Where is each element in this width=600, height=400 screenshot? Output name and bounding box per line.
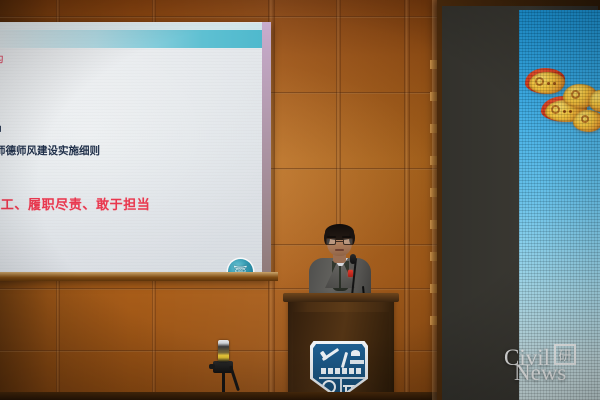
led-screen-icon [519, 10, 600, 400]
emblem-university-name [321, 368, 363, 374]
stage-floor [0, 392, 437, 400]
screen-bottom-trim [0, 272, 278, 281]
slide-highlight-text: 服从分工、履职尽责、敢于担当 [0, 194, 150, 213]
led-pixel-grid [519, 10, 600, 400]
emblem-wrench [341, 352, 348, 368]
glasses-lens-left [326, 238, 336, 245]
projection-screen: 专题学习 神 治工作会议精神 想政治工作和师德师风建设实施细则 系列文件 服从分… [0, 22, 262, 272]
tripod-camera-icon [204, 340, 244, 400]
emblem-sunrise [351, 350, 360, 356]
microphone-icon [350, 254, 356, 264]
projection-screen-frame: 专题学习 神 治工作会议精神 想政治工作和师德师风建设实施细则 系列文件 服从分… [0, 22, 271, 280]
podium-top-surface [283, 293, 399, 302]
photo-canvas: 专题学习 神 治工作会议精神 想政治工作和师德师风建设实施细则 系列文件 服从分… [0, 0, 600, 400]
glasses-lens-right [343, 238, 353, 245]
slide-bullet-3: 想政治工作和师德师风建设实施细则 [0, 143, 100, 158]
slide-title: 专题学习 [0, 54, 4, 65]
phone-camera-icon [218, 340, 229, 362]
emblem-divider [319, 377, 365, 379]
mouth [335, 249, 344, 251]
glasses-icon [326, 238, 353, 245]
glasses-bridge [336, 241, 343, 242]
wall-pilaster [404, 0, 410, 400]
tripod-pan-handle [229, 366, 240, 392]
slide-bullet-2: 治工作会议精神 [0, 122, 2, 137]
slide-header-band [0, 30, 262, 48]
tripod-knob [209, 364, 215, 369]
emblem-founding-year [350, 360, 364, 364]
